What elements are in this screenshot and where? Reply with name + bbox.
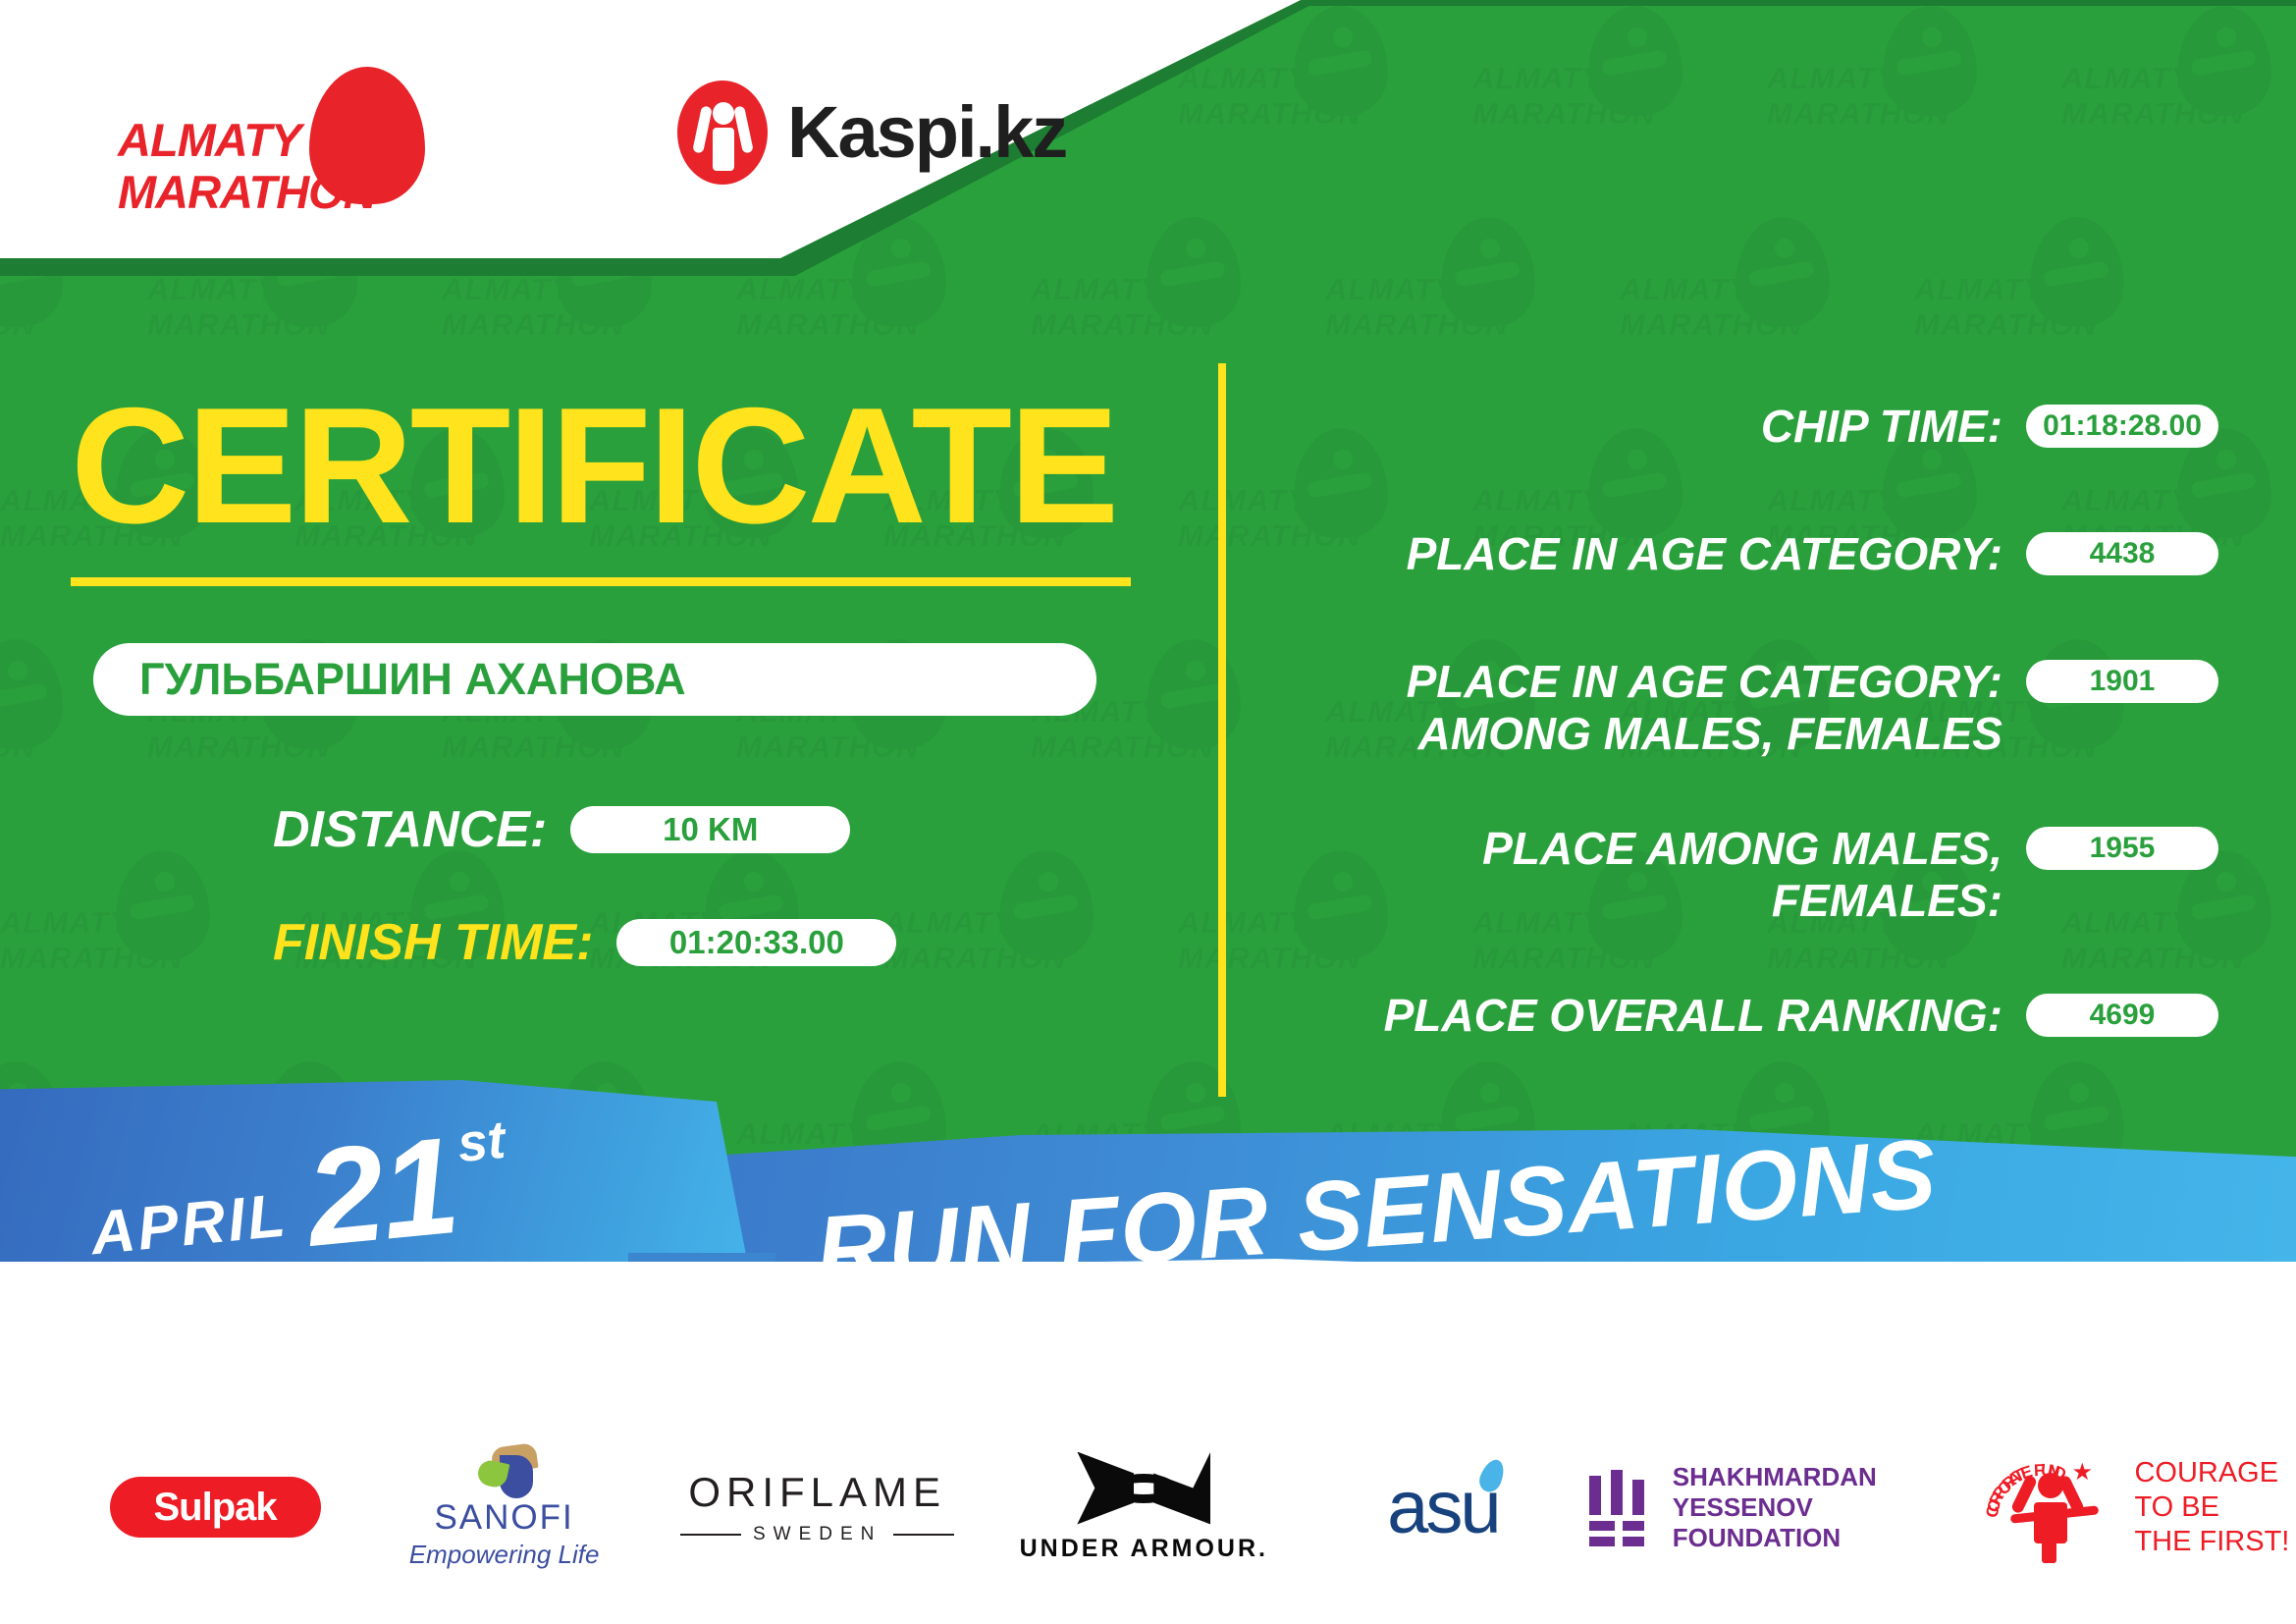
distance-row: DISTANCE: 10 KM (273, 800, 850, 859)
courage-line1: COURAGE (2134, 1456, 2289, 1490)
kaspi-person-icon (677, 81, 768, 185)
finish-time-label: FINISH TIME: (273, 913, 593, 972)
oriflame-wordmark: ORIFLAME (688, 1469, 946, 1516)
title-underline (71, 577, 1131, 586)
sulpak-wordmark: Sulpak (153, 1486, 276, 1530)
stat-label: PLACE AMONG MALES, FEMALES: (1276, 823, 2002, 927)
stat-value: 01:18:28.00 (2043, 409, 2202, 443)
yessenov-bar (1623, 1521, 1644, 1531)
finish-time-value: 01:20:33.00 (669, 924, 844, 961)
participant-name-field: ГУЛЬБАРШИН АХАНОВА (93, 643, 1096, 716)
almaty-marathon-wordmark: ALMATY MARATHON (118, 114, 383, 218)
certificate-canvas: ALMATYMARATHONALMATYMARATHONALMATYMARATH… (0, 0, 2296, 1624)
distance-value: 10 KM (663, 811, 758, 848)
event-month: APRIL (87, 1180, 291, 1269)
stat-value: 1955 (2090, 832, 2156, 865)
sponsor-sanofi[interactable]: SANOFI Empowering Life (371, 1443, 637, 1571)
under-armour-wordmark: UNDER ARMOUR. (1020, 1535, 1268, 1563)
stat-row-place-age-category-among: PLACE IN AGE CATEGORY: AMONG MALES, FEMA… (1276, 656, 2218, 760)
yessenov-bar (1623, 1537, 1644, 1546)
courage-wordmark: COURAGE TO BE THE FIRST! (2134, 1456, 2289, 1559)
stat-label: PLACE IN AGE CATEGORY: (1276, 528, 2002, 580)
page-title: CERTIFICATE (71, 383, 1116, 548)
oriflame-rule-left (680, 1534, 741, 1536)
oriflame-subline: SWEDEN (680, 1524, 954, 1545)
almaty-line: ALMATY (118, 114, 383, 166)
stat-value-pill: 1901 (2026, 660, 2218, 703)
finish-time-value-pill: 01:20:33.00 (616, 919, 896, 966)
sanofi-symbol-icon (466, 1445, 543, 1496)
stat-label: PLACE OVERALL RANKING: (1276, 990, 2002, 1042)
kaspi-logo[interactable]: Kaspi.kz (677, 79, 1090, 187)
stat-row-place-overall-ranking: PLACE OVERALL RANKING: 4699 (1276, 990, 2218, 1042)
distance-value-pill: 10 KM (570, 806, 850, 853)
yessenov-bars-icon (1585, 1470, 1654, 1544)
kaspi-arm-right-icon (733, 105, 754, 153)
sponsor-yessenov-foundation[interactable]: SHAKHMARDAN YESSENOV FOUNDATION (1585, 1443, 1966, 1571)
yessenov-bar (1589, 1537, 1615, 1546)
courage-leg-icon (2042, 1538, 2056, 1563)
event-day: 21 (301, 1124, 461, 1260)
asu-logo: asu (1387, 1465, 1499, 1550)
stat-row-chip-time: CHIP TIME: 01:18:28.00 (1276, 401, 2218, 453)
sanofi-wordmark: SANOFI (434, 1498, 573, 1538)
watermark-tile: ALMATYMARATHON (883, 844, 1178, 1056)
event-day-ordinal: st (455, 1110, 508, 1174)
finish-time-row: FINISH TIME: 01:20:33.00 (273, 913, 896, 972)
watermark-tile: ALMATYMARATHON (0, 844, 294, 1056)
yessenov-line1: SHAKHMARDAN YESSENOV (1673, 1462, 1967, 1523)
stat-value-pill: 01:18:28.00 (2026, 405, 2218, 448)
kaspi-head-icon (713, 102, 734, 125)
oriflame-country: SWEDEN (753, 1524, 881, 1545)
oriflame-rule-right (893, 1534, 954, 1536)
sanofi-tagline: Empowering Life (409, 1540, 600, 1570)
sulpak-logo: Sulpak (110, 1477, 321, 1538)
yessenov-bar (1589, 1476, 1601, 1515)
sponsor-strip: Sulpak SANOFI Empowering Life ORIFLAME S… (0, 1424, 2296, 1591)
courage-line3: THE FIRST! (2134, 1525, 2289, 1559)
courage-runner-icon: CORPORATE FUND ★ (1983, 1453, 2120, 1561)
kaspi-body-icon (713, 128, 734, 171)
courage-line2: TO BE (2134, 1490, 2289, 1525)
yessenov-bar (1632, 1480, 1644, 1515)
under-armour-icon (1077, 1452, 1210, 1525)
marathon-line: MARATHON (118, 166, 383, 218)
stat-row-place-age-category: PLACE IN AGE CATEGORY: 4438 (1276, 528, 2218, 580)
sponsor-courage-to-be-first[interactable]: CORPORATE FUND ★ COURAGE TO BE THE FIRST… (1977, 1443, 2296, 1571)
stat-label: PLACE IN AGE CATEGORY: AMONG MALES, FEMA… (1276, 656, 2002, 760)
distance-label: DISTANCE: (273, 800, 547, 859)
sponsor-under-armour[interactable]: UNDER ARMOUR. (997, 1443, 1290, 1571)
courage-star-icon: ★ (2071, 1461, 2093, 1485)
yessenov-bar (1589, 1521, 1615, 1531)
sponsor-oriflame[interactable]: ORIFLAME SWEDEN (667, 1443, 968, 1571)
vertical-divider (1218, 363, 1226, 1097)
stat-row-place-among-males-females: PLACE AMONG MALES, FEMALES: 1955 (1276, 823, 2218, 927)
watermark-text: ALMATYMARATHON (0, 694, 79, 765)
almaty-marathon-logo[interactable]: ALMATY MARATHON (118, 67, 452, 194)
stat-value: 4699 (2090, 999, 2156, 1032)
ua-center-ring-icon (1110, 1474, 1177, 1503)
header: ALMATY MARATHON Kaspi.kz (0, 0, 2296, 295)
yessenov-line2: FOUNDATION (1673, 1523, 1967, 1553)
kaspi-arm-left-icon (692, 105, 713, 153)
watermark-text: ALMATYMARATHON (0, 905, 226, 976)
stat-value: 1901 (2090, 665, 2156, 698)
participant-name-value: ГУЛЬБАРШИН АХАНОВА (139, 654, 686, 705)
stat-label: CHIP TIME: (1276, 401, 2002, 453)
stat-value: 4438 (2090, 537, 2156, 570)
yessenov-wordmark: SHAKHMARDAN YESSENOV FOUNDATION (1673, 1462, 1967, 1553)
stat-value-pill: 1955 (2026, 827, 2218, 870)
stat-value-pill: 4438 (2026, 532, 2218, 575)
watermark-text: ALMATYMARATHON (883, 905, 1109, 976)
sponsor-asu[interactable]: asu (1309, 1443, 1575, 1571)
yessenov-bar (1611, 1470, 1623, 1515)
sponsor-sulpak[interactable]: Sulpak (69, 1443, 361, 1571)
stat-value-pill: 4699 (2026, 994, 2218, 1037)
kaspi-wordmark: Kaspi.kz (787, 90, 1066, 174)
